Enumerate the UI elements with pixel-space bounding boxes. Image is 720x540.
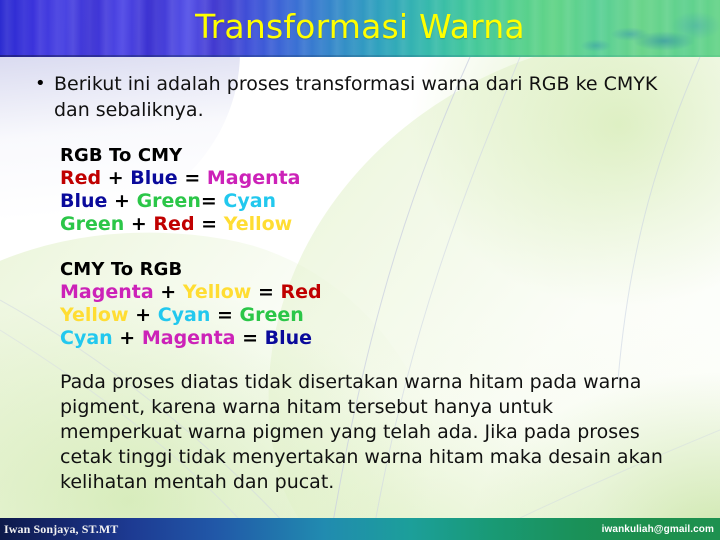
equation-token: Cyan	[158, 304, 211, 326]
equation-token: +	[154, 281, 183, 303]
equation-group-rgb-to-cmy: RGB To CMY Red + Blue = Magenta Blue + G…	[60, 144, 660, 236]
equation-token: =	[236, 327, 265, 349]
equation-token: Magenta	[142, 327, 236, 349]
slide: Transformasi Warna • Berikut ini adalah …	[0, 0, 720, 540]
equation-group-heading: CMY To RGB	[60, 258, 660, 281]
equation-token: =	[210, 304, 239, 326]
bullet-marker-icon: •	[30, 71, 54, 97]
intro-bullet-text: Berikut ini adalah proses transformasi w…	[54, 71, 690, 123]
equation-token: +	[124, 213, 153, 235]
equation-line: Red + Blue = Magenta	[60, 167, 660, 190]
equation-token: Green	[137, 190, 201, 212]
equation-token: Blue	[265, 327, 312, 349]
equation-token: Yellow	[60, 304, 129, 326]
equation-line: Blue + Green= Cyan	[60, 190, 660, 213]
equation-token: +	[101, 167, 130, 189]
equation-token: =	[251, 281, 280, 303]
equation-token: +	[107, 190, 136, 212]
equation-token: +	[113, 327, 142, 349]
equation-line: Yellow + Cyan = Green	[60, 304, 660, 327]
equation-token: Red	[281, 281, 322, 303]
equation-token: Magenta	[207, 167, 301, 189]
footer-author: Iwan Sonjaya, ST.MT	[4, 522, 118, 537]
banner-bottom-edge	[0, 55, 720, 57]
equation-token: Magenta	[60, 281, 154, 303]
equation-token: Yellow	[183, 281, 252, 303]
intro-bullet: • Berikut ini adalah proses transformasi…	[30, 71, 690, 123]
equation-line: Green + Red = Yellow	[60, 213, 660, 236]
equation-token: Yellow	[224, 213, 293, 235]
equation-group-cmy-to-rgb: CMY To RGB Magenta + Yellow = Red Yellow…	[60, 258, 660, 350]
page-title: Transformasi Warna	[0, 4, 720, 50]
equation-token: +	[129, 304, 158, 326]
closing-paragraph: Pada proses diatas tidak disertakan warn…	[60, 370, 680, 495]
equation-token: =	[195, 213, 224, 235]
equation-token: =	[201, 190, 224, 212]
equation-token: Green	[240, 304, 304, 326]
equation-line: Magenta + Yellow = Red	[60, 281, 660, 304]
equation-token: =	[178, 167, 207, 189]
equation-token: Cyan	[223, 190, 276, 212]
equation-token: Blue	[130, 167, 177, 189]
equation-line: Cyan + Magenta = Blue	[60, 327, 660, 350]
equation-token: Red	[60, 167, 101, 189]
equation-token: Cyan	[60, 327, 113, 349]
footer-email: iwankuliah@gmail.com	[602, 524, 714, 535]
equation-group-heading: RGB To CMY	[60, 144, 660, 167]
equation-token: Red	[153, 213, 194, 235]
equation-token: Green	[60, 213, 124, 235]
slide-footer: Iwan Sonjaya, ST.MT iwankuliah@gmail.com	[0, 518, 720, 540]
equation-token: Blue	[60, 190, 107, 212]
